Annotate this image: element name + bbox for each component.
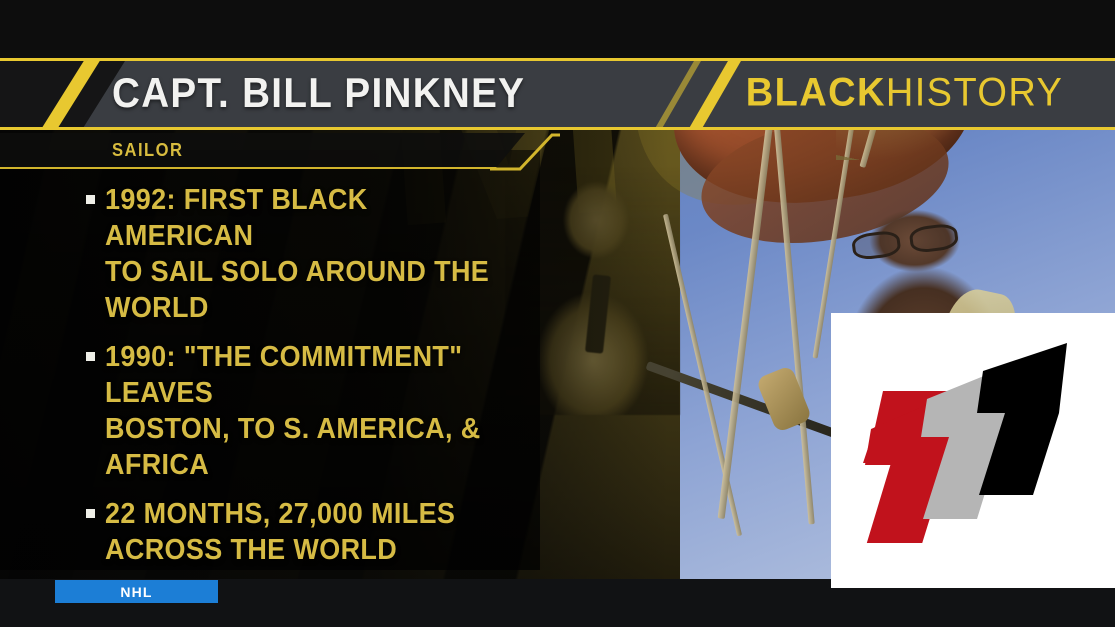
logo-panel-bottom-cut <box>831 588 1115 600</box>
list-item: 1992: FIRST BLACK AMERICAN TO SAIL SOLO … <box>86 182 546 326</box>
bullet-square-icon <box>86 509 95 518</box>
section-title-light: HISTORY <box>885 71 1063 115</box>
list-item-text: 22 MONTHS, 27,000 MILES ACROSS THE WORLD <box>105 496 455 568</box>
list-item-text: 1990: "THE COMMITMENT" LEAVES BOSTON, TO… <box>105 339 515 483</box>
page-title: CAPT. BILL PINKNEY <box>112 69 525 117</box>
league-badge-nhl[interactable]: NHL <box>55 580 218 603</box>
league-badge-label: NHL <box>120 584 152 600</box>
ttt-logo-icon <box>851 343 1095 543</box>
fact-list: 1992: FIRST BLACK AMERICAN TO SAIL SOLO … <box>86 182 546 627</box>
list-item-text: 1992: FIRST BLACK AMERICAN TO SAIL SOLO … <box>105 182 515 326</box>
list-item: 1990: "THE COMMITMENT" LEAVES BOSTON, TO… <box>86 339 546 483</box>
header-divider-slash <box>677 58 748 130</box>
title-bar: CAPT. BILL PINKNEY BLACKHISTORY <box>0 58 1115 130</box>
ttt-logo-panel <box>831 313 1115 591</box>
top-letterbox-band <box>0 0 1115 58</box>
bullet-square-icon <box>86 195 95 204</box>
section-title-bold: BLACK <box>745 71 885 115</box>
list-item: 22 MONTHS, 27,000 MILES ACROSS THE WORLD <box>86 496 546 568</box>
role-label: SAILOR <box>112 140 183 161</box>
section-title: BLACKHISTORY <box>745 71 1063 116</box>
bullet-square-icon <box>86 352 95 361</box>
role-band <box>0 133 525 169</box>
broadcast-graphic-stage: MC CAPT. BILL PINKNEY BLACKHISTORY <box>0 0 1115 627</box>
